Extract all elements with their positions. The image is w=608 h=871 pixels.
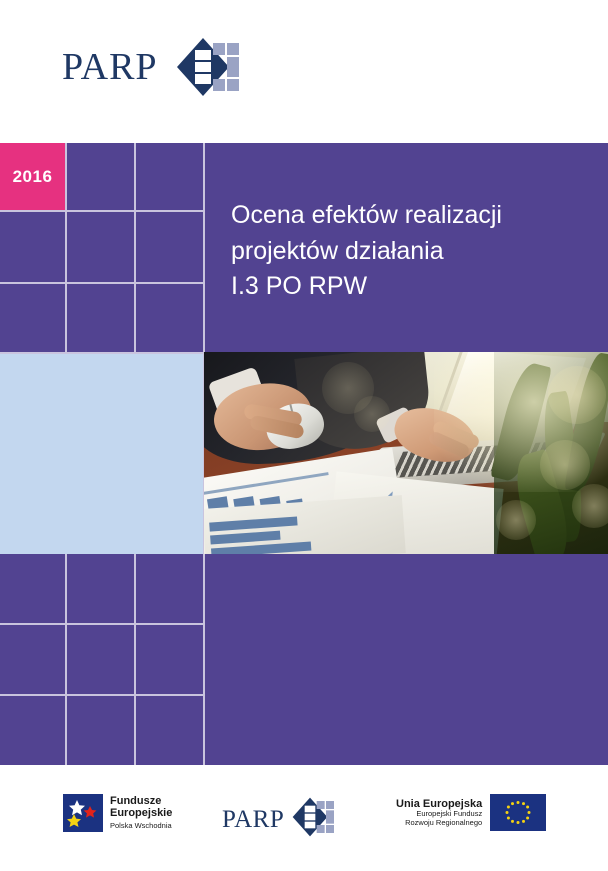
cover-panel: 2016 Ocena efektów realizacji projektów … bbox=[0, 143, 608, 765]
page-title: Ocena efektów realizacji projektów dział… bbox=[231, 198, 581, 305]
grid-line-horizontal bbox=[0, 210, 203, 212]
photo-bokeh bbox=[354, 396, 390, 432]
grid-line-horizontal bbox=[0, 694, 203, 696]
unia-europejska-text: Unia Europejska Europejski Fundusz Rozwo… bbox=[396, 798, 482, 827]
cover-photo bbox=[204, 352, 608, 554]
parp-diamond-icon bbox=[176, 37, 242, 97]
fundusze-europejskie-logo: Fundusze Europejskie Polska Wschodnia bbox=[63, 794, 172, 832]
fundusze-europejskie-text: Fundusze Europejskie Polska Wschodnia bbox=[110, 796, 172, 830]
eu-flag-icon bbox=[490, 794, 546, 831]
title-line-3: I.3 PO RPW bbox=[231, 269, 581, 305]
parp-diamond-icon bbox=[292, 797, 336, 842]
light-blue-accent-block bbox=[0, 354, 203, 554]
photo-bokeh bbox=[540, 440, 590, 490]
header-parp-logo: PARP bbox=[62, 36, 242, 98]
year-badge-label: 2016 bbox=[13, 167, 53, 187]
parp-wordmark: PARP bbox=[222, 807, 284, 832]
grid-line-horizontal bbox=[0, 282, 203, 284]
title-line-2: projektów działania bbox=[231, 234, 581, 270]
photo-chart-bar bbox=[210, 531, 280, 545]
footer-parp-logo: PARP bbox=[222, 797, 336, 842]
photo-bokeh bbox=[572, 484, 608, 528]
year-badge: 2016 bbox=[0, 143, 65, 210]
photo-chart-rule bbox=[204, 472, 329, 495]
parp-wordmark: PARP bbox=[62, 48, 158, 86]
fe-line-2: Europejskie bbox=[110, 808, 172, 820]
photo-bokeh bbox=[496, 500, 536, 540]
title-line-1: Ocena efektów realizacji bbox=[231, 198, 581, 234]
unia-europejska-logo: Unia Europejska Europejski Fundusz Rozwo… bbox=[396, 794, 546, 831]
fundusze-europejskie-flag-icon bbox=[63, 794, 103, 832]
grid-line-horizontal bbox=[0, 623, 203, 625]
fe-line-3: Polska Wschodnia bbox=[110, 822, 172, 830]
photo-chart-bar bbox=[209, 516, 297, 531]
footer-logo-bar: Fundusze Europejskie Polska Wschodnia PA… bbox=[0, 788, 608, 850]
ue-line-3: Rozwoju Regionalnego bbox=[396, 819, 482, 827]
photo-bokeh bbox=[548, 366, 606, 424]
